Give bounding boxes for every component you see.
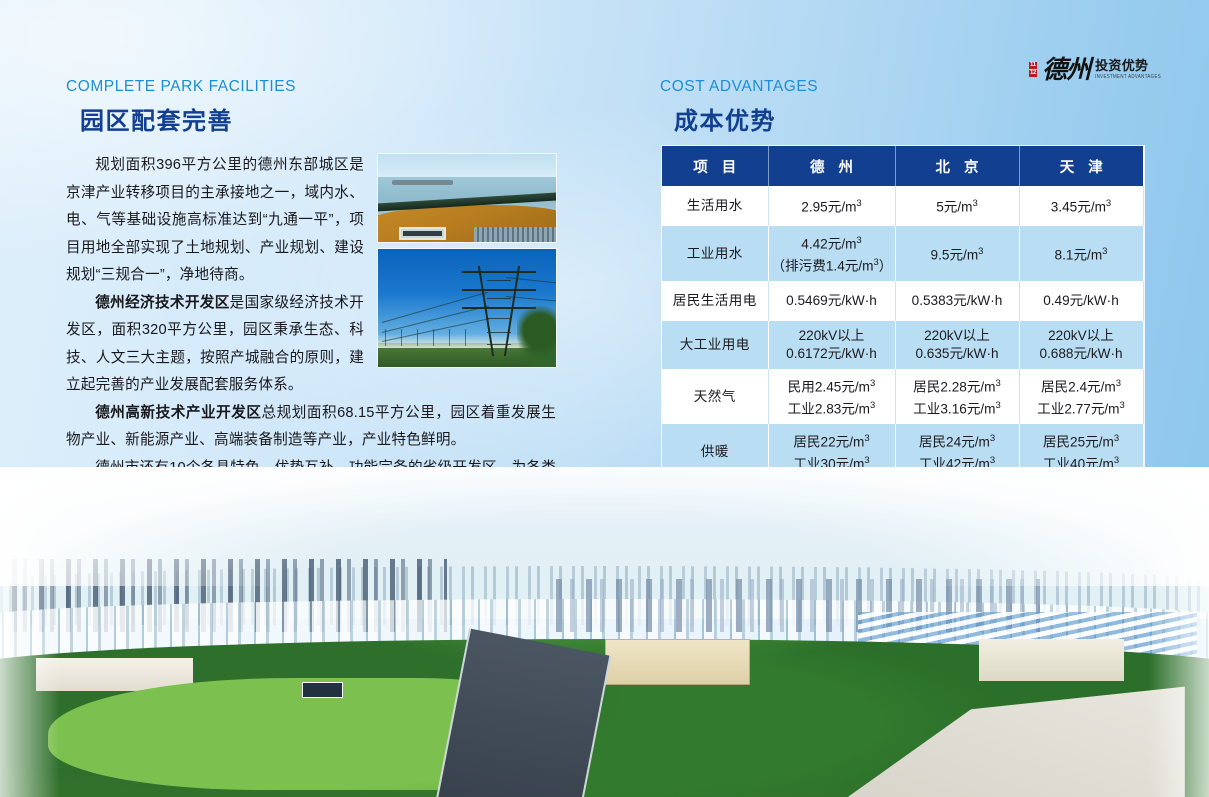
cityscape-colonnade-building xyxy=(979,639,1124,682)
cityscape-led-screen xyxy=(302,682,343,699)
cell-beijing: 5元/m3 xyxy=(895,186,1019,226)
row-label: 大工业用电 xyxy=(662,321,768,369)
logo-title-group: 投资优势 INVESTMENT ADVANTAGES xyxy=(1095,59,1161,79)
table-row: 天然气民用2.45元/m3工业2.83元/m3居民2.28元/m3工业3.16元… xyxy=(662,369,1143,424)
paragraph-2-lead: 德州经济技术开发区 xyxy=(95,295,229,311)
row-label: 居民生活用电 xyxy=(662,281,768,321)
left-body-text: 规划面积396平方公里的德州东部城区是京津产业转移项目的主承接地之一，域内水、电… xyxy=(66,152,556,510)
photo-pool-structure xyxy=(399,227,445,240)
logo-title-cn: 投资优势 xyxy=(1095,59,1161,73)
reservoir-embankment-photo xyxy=(378,154,556,242)
cell-beijing: 居民2.28元/m3工业3.16元/m3 xyxy=(895,369,1019,424)
left-heading-cn: 园区配套完善 xyxy=(66,101,556,136)
column-header-tianjin: 天 津 xyxy=(1019,146,1143,186)
cell-dezhou: 220kV以上0.6172元/kW·h xyxy=(768,321,895,369)
cell-tianjin: 8.1元/m3 xyxy=(1019,226,1143,281)
column-header-dezhou: 德 州 xyxy=(768,146,895,186)
column-header-beijing: 北 京 xyxy=(895,146,1019,186)
right-eyebrow-en: COST ADVANTAGES xyxy=(660,78,1150,96)
cell-beijing: 0.5383元/kW·h xyxy=(895,281,1019,321)
cell-dezhou: 民用2.45元/m3工业2.83元/m3 xyxy=(768,369,895,424)
cell-dezhou: 2.95元/m3 xyxy=(768,186,895,226)
right-column: COST ADVANTAGES 成本优势 xyxy=(660,78,1150,152)
column-header-item: 项 目 xyxy=(662,146,768,186)
cost-comparison-table: 项 目 德 州 北 京 天 津 生活用水2.95元/m35元/m33.45元/m… xyxy=(662,146,1144,479)
cell-beijing: 9.5元/m3 xyxy=(895,226,1019,281)
photo-pylon-structure xyxy=(478,266,521,356)
page-number-badge-bottom: 12 xyxy=(1029,70,1037,77)
row-label: 天然气 xyxy=(662,369,768,424)
right-heading-cn: 成本优势 xyxy=(660,101,1150,136)
row-label: 生活用水 xyxy=(662,186,768,226)
cell-tianjin: 3.45元/m3 xyxy=(1019,186,1143,226)
table-row: 工业用水4.42元/m3（排污费1.4元/m3）9.5元/m38.1元/m3 xyxy=(662,226,1143,281)
brochure-page: 11 12 德州 投资优势 INVESTMENT ADVANTAGES COMP… xyxy=(0,0,1209,797)
cell-tianjin: 0.49元/kW·h xyxy=(1019,281,1143,321)
paragraph-3-lead: 德州高新技术产业开发区 xyxy=(95,405,261,421)
left-column: COMPLETE PARK FACILITIES 园区配套完善 xyxy=(66,78,556,510)
table-header-row: 项 目 德 州 北 京 天 津 xyxy=(662,146,1143,186)
photo-foliage xyxy=(517,306,556,367)
cell-dezhou: 0.5469元/kW·h xyxy=(768,281,895,321)
cell-beijing: 220kV以上0.635元/kW·h xyxy=(895,321,1019,369)
cell-tianjin: 居民2.4元/m3工业2.77元/m3 xyxy=(1019,369,1143,424)
cityscape-government-building xyxy=(605,639,750,685)
power-transmission-tower-photo xyxy=(378,249,556,367)
table-row: 生活用水2.95元/m35元/m33.45元/m3 xyxy=(662,186,1143,226)
dezhou-aerial-cityscape-photo xyxy=(0,467,1209,797)
cell-dezhou: 4.42元/m3（排污费1.4元/m3） xyxy=(768,226,895,281)
page-number-badges: 11 12 xyxy=(1029,62,1037,77)
table-row: 大工业用电220kV以上0.6172元/kW·h220kV以上0.635元/kW… xyxy=(662,321,1143,369)
page-number-badge-top: 11 xyxy=(1029,62,1037,69)
cell-tianjin: 220kV以上0.688元/kW·h xyxy=(1019,321,1143,369)
row-label: 工业用水 xyxy=(662,226,768,281)
photo-far-shore xyxy=(392,180,453,184)
paragraph-3: 德州高新技术产业开发区总规划面积68.15平方公里，园区着重发展生物产业、新能源… xyxy=(66,400,556,455)
table-row: 居民生活用电0.5469元/kW·h0.5383元/kW·h0.49元/kW·h xyxy=(662,281,1143,321)
photo-fence xyxy=(474,227,556,242)
left-eyebrow-en: COMPLETE PARK FACILITIES xyxy=(66,78,556,96)
